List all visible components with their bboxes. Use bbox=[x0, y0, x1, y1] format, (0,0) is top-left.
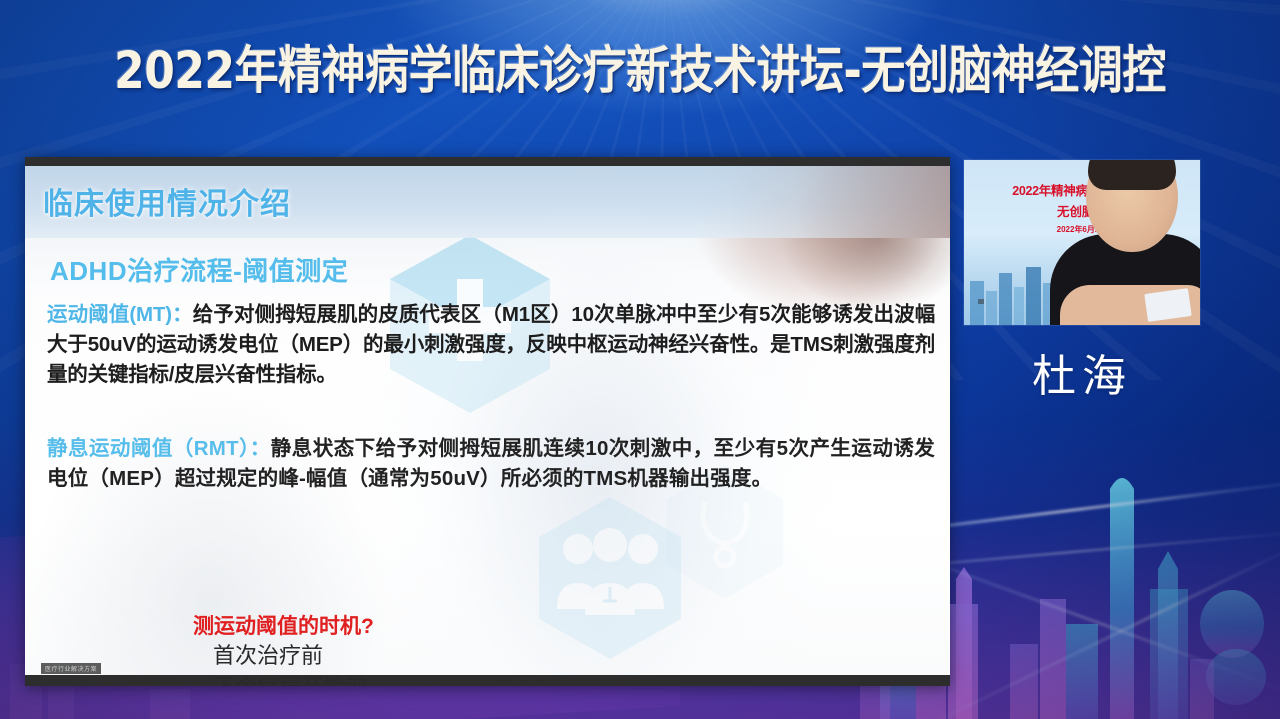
slide-panel[interactable]: 临床使用情况介绍 ADHD治疗流程-阈值测定 运动阈值(MT)：给予对侧拇短展肌… bbox=[25, 157, 950, 686]
page-header: 2022年精神病学临床诊疗新技术讲坛-无创脑神经调控 bbox=[0, 0, 1280, 132]
presentation-stage: 2022年精神病学临床诊疗新技术讲坛-无创脑神经调控 临 bbox=[0, 0, 1280, 719]
slide-top-bar bbox=[25, 157, 950, 166]
slide-header-photo-blur bbox=[730, 166, 950, 238]
list-item: 下个疗程开始前 bbox=[213, 671, 367, 686]
slide-section-title: 临床使用情况介绍 bbox=[43, 179, 291, 223]
speaker-video-panel[interactable]: 2022年精神病学临 术讲坛 无创脑神 2022年6月2日 bbox=[964, 160, 1200, 325]
paragraph-mt-lead: 运动阈值(MT)： bbox=[47, 303, 193, 326]
speaker-name-label: 杜海 bbox=[964, 340, 1200, 404]
paragraph-rmt-lead: 静息运动阈值（RMT）： bbox=[47, 437, 271, 460]
list-item: 首次治疗前 bbox=[213, 640, 367, 671]
question-heading: 测运动阈值的时机? bbox=[193, 610, 374, 640]
slide-body: ADHD治疗流程-阈值测定 运动阈值(MT)：给予对侧拇短展肌的皮质代表区（M1… bbox=[25, 238, 950, 675]
paragraph-motor-threshold: 运动阈值(MT)：给予对侧拇短展肌的皮质代表区（M1区）10次单脉冲中至少有5次… bbox=[47, 300, 935, 390]
slide-heading: ADHD治疗流程-阈值测定 bbox=[50, 251, 348, 288]
speaker-hair bbox=[1088, 160, 1176, 190]
slide-bottom-bar bbox=[25, 675, 950, 686]
timing-list: 首次治疗前 下个疗程开始前 更换药物或剂量 更换设备 bbox=[213, 640, 367, 686]
slide-watermark: 医疗行业解决方案 bbox=[41, 663, 101, 674]
page-title: 2022年精神病学临床诊疗新技术讲坛-无创脑神经调控 bbox=[114, 29, 1166, 103]
paragraph-resting-motor-threshold: 静息运动阈值（RMT）：静息状态下给予对侧拇短展肌连续10次刺激中，至少有5次产… bbox=[47, 434, 935, 494]
